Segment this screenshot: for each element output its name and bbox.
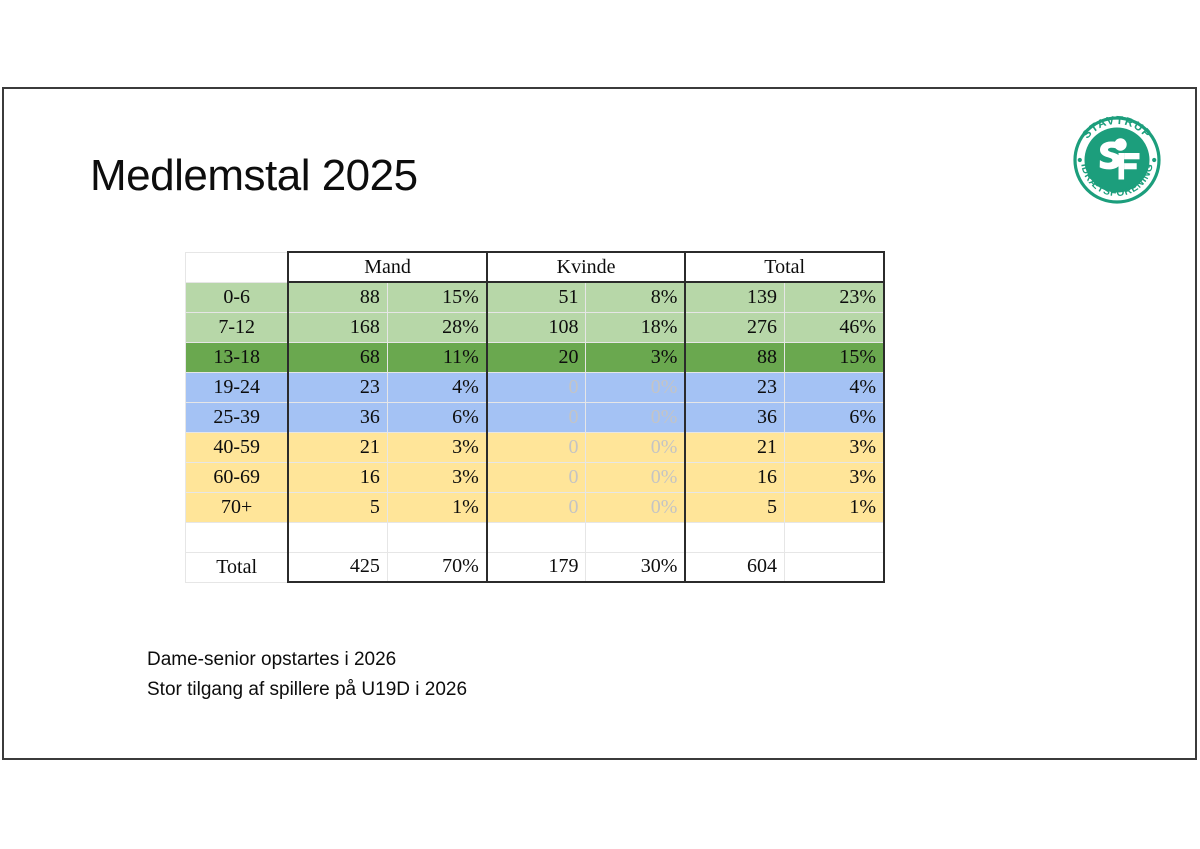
- spacer-cell: [586, 522, 685, 552]
- kvinde-percent: 0%: [586, 492, 685, 522]
- total-percent: 3%: [785, 462, 885, 492]
- total-percent: 15%: [785, 342, 885, 372]
- note-line-2: Stor tilgang af spillere på U19D i 2026: [147, 675, 467, 705]
- kvinde-percent: 0%: [586, 402, 685, 432]
- total-count: 21: [685, 432, 784, 462]
- total-percent: 6%: [785, 402, 885, 432]
- mand-percent: 1%: [387, 492, 486, 522]
- mand-percent: 4%: [387, 372, 486, 402]
- slide-canvas: Medlemstal 2025 STAVTRUP IDRÆTSFORENING: [2, 87, 1197, 760]
- spacer-cell: [387, 522, 486, 552]
- kvinde-count: 0: [487, 372, 586, 402]
- slide-notes: Dame-senior opstartes i 2026 Stor tilgan…: [147, 645, 467, 705]
- total-count: 88: [685, 342, 784, 372]
- mand-percent: 6%: [387, 402, 486, 432]
- mand-percent: 11%: [387, 342, 486, 372]
- page-title: Medlemstal 2025: [90, 151, 418, 201]
- header-group-mand: Mand: [288, 252, 487, 282]
- row-label: 40-59: [186, 432, 289, 462]
- row-label: 60-69: [186, 462, 289, 492]
- spacer-cell: [785, 522, 885, 552]
- mand-count: 68: [288, 342, 387, 372]
- kvinde-percent: 0%: [586, 462, 685, 492]
- row-label: 19-24: [186, 372, 289, 402]
- row-label: 25-39: [186, 402, 289, 432]
- total-percent: 3%: [785, 432, 885, 462]
- kvinde-count: 0: [487, 432, 586, 462]
- mand-count: 16: [288, 462, 387, 492]
- kvinde-percent: 18%: [586, 312, 685, 342]
- total-percent: 1%: [785, 492, 885, 522]
- total-total-count: 604: [685, 552, 784, 582]
- header-group-total: Total: [685, 252, 884, 282]
- total-count: 139: [685, 282, 784, 312]
- table-header-row: Mand Kvinde Total: [186, 252, 885, 282]
- total-kvinde-count: 179: [487, 552, 586, 582]
- table-row: 7-12 168 28% 108 18% 276 46%: [186, 312, 885, 342]
- mand-count: 21: [288, 432, 387, 462]
- table-row: 0-6 88 15% 51 8% 139 23%: [186, 282, 885, 312]
- mand-count: 5: [288, 492, 387, 522]
- total-percent: 46%: [785, 312, 885, 342]
- spacer-cell: [186, 522, 289, 552]
- mand-count: 23: [288, 372, 387, 402]
- total-kvinde-percent: 30%: [586, 552, 685, 582]
- kvinde-percent: 3%: [586, 342, 685, 372]
- table-spacer-row: [186, 522, 885, 552]
- kvinde-count: 51: [487, 282, 586, 312]
- kvinde-count: 108: [487, 312, 586, 342]
- kvinde-count: 0: [487, 462, 586, 492]
- kvinde-count: 0: [487, 402, 586, 432]
- total-percent: 23%: [785, 282, 885, 312]
- total-mand-percent: 70%: [387, 552, 486, 582]
- total-total-percent: [785, 552, 885, 582]
- row-label: 13-18: [186, 342, 289, 372]
- total-row-label: Total: [186, 552, 289, 582]
- row-label: 0-6: [186, 282, 289, 312]
- mand-count: 36: [288, 402, 387, 432]
- kvinde-count: 0: [487, 492, 586, 522]
- total-count: 36: [685, 402, 784, 432]
- table-row: 70+ 5 1% 0 0% 5 1%: [186, 492, 885, 522]
- table-row: 13-18 68 11% 20 3% 88 15%: [186, 342, 885, 372]
- kvinde-percent: 0%: [586, 372, 685, 402]
- mand-percent: 15%: [387, 282, 486, 312]
- table-body: 0-6 88 15% 51 8% 139 23% 7-12 168 28% 10…: [186, 282, 885, 582]
- table-total-row: Total 425 70% 179 30% 604: [186, 552, 885, 582]
- row-label: 70+: [186, 492, 289, 522]
- total-count: 23: [685, 372, 784, 402]
- header-corner-blank: [186, 252, 289, 282]
- table-row: 60-69 16 3% 0 0% 16 3%: [186, 462, 885, 492]
- membership-table-wrapper: Mand Kvinde Total 0-6 88 15% 51 8% 139 2…: [185, 251, 885, 583]
- kvinde-percent: 0%: [586, 432, 685, 462]
- table-row: 40-59 21 3% 0 0% 21 3%: [186, 432, 885, 462]
- mand-count: 168: [288, 312, 387, 342]
- total-count: 276: [685, 312, 784, 342]
- row-label: 7-12: [186, 312, 289, 342]
- spacer-cell: [288, 522, 387, 552]
- spacer-cell: [487, 522, 586, 552]
- stavtrup-if-logo: STAVTRUP IDRÆTSFORENING: [1066, 109, 1168, 211]
- total-count: 16: [685, 462, 784, 492]
- kvinde-count: 20: [487, 342, 586, 372]
- total-count: 5: [685, 492, 784, 522]
- spacer-cell: [685, 522, 784, 552]
- note-line-1: Dame-senior opstartes i 2026: [147, 645, 467, 675]
- table-row: 25-39 36 6% 0 0% 36 6%: [186, 402, 885, 432]
- total-percent: 4%: [785, 372, 885, 402]
- kvinde-percent: 8%: [586, 282, 685, 312]
- mand-percent: 28%: [387, 312, 486, 342]
- total-mand-count: 425: [288, 552, 387, 582]
- mand-percent: 3%: [387, 432, 486, 462]
- mand-count: 88: [288, 282, 387, 312]
- table-head: Mand Kvinde Total: [186, 252, 885, 282]
- membership-table: Mand Kvinde Total 0-6 88 15% 51 8% 139 2…: [185, 251, 885, 583]
- header-group-kvinde: Kvinde: [487, 252, 686, 282]
- table-row: 19-24 23 4% 0 0% 23 4%: [186, 372, 885, 402]
- mand-percent: 3%: [387, 462, 486, 492]
